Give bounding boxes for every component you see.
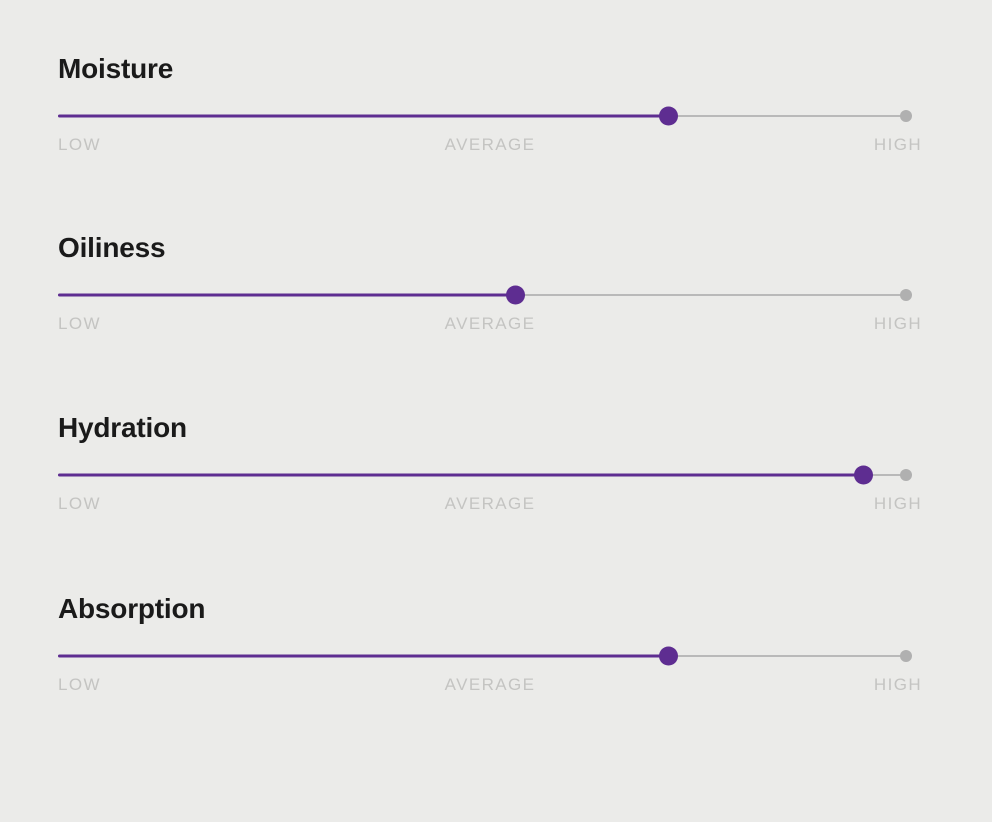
slider-group-oiliness: Oiliness LOW AVERAGE HIGH	[58, 234, 922, 334]
scale-label-low: LOW	[58, 494, 101, 514]
slider-title-moisture: Moisture	[58, 55, 922, 83]
slider-track-oiliness[interactable]	[58, 284, 906, 306]
scale-label-average: AVERAGE	[445, 494, 536, 514]
slider-track-active	[58, 655, 669, 658]
slider-end-dot	[900, 650, 912, 662]
scale-label-high: HIGH	[874, 494, 922, 514]
scale-label-low: LOW	[58, 135, 101, 155]
slider-track-absorption[interactable]	[58, 645, 906, 667]
scale-labels-moisture: LOW AVERAGE HIGH	[58, 135, 922, 155]
slider-track-active	[58, 294, 516, 297]
scale-label-low: LOW	[58, 314, 101, 334]
scale-label-average: AVERAGE	[445, 314, 536, 334]
slider-title-absorption: Absorption	[58, 595, 922, 623]
slider-thumb-absorption[interactable]	[659, 647, 678, 666]
scale-label-high: HIGH	[874, 314, 922, 334]
slider-group-moisture: Moisture LOW AVERAGE HIGH	[58, 55, 922, 155]
slider-end-dot	[900, 469, 912, 481]
slider-group-hydration: Hydration LOW AVERAGE HIGH	[58, 414, 922, 514]
slider-title-oiliness: Oiliness	[58, 234, 922, 262]
slider-thumb-oiliness[interactable]	[506, 286, 525, 305]
slider-thumb-hydration[interactable]	[854, 466, 873, 485]
slider-track-active	[58, 115, 669, 118]
scale-label-high: HIGH	[874, 675, 922, 695]
slider-end-dot	[900, 110, 912, 122]
slider-track-active	[58, 474, 864, 477]
slider-group-absorption: Absorption LOW AVERAGE HIGH	[58, 595, 922, 695]
scale-labels-hydration: LOW AVERAGE HIGH	[58, 494, 922, 514]
scale-label-low: LOW	[58, 675, 101, 695]
scale-label-average: AVERAGE	[445, 135, 536, 155]
scale-label-average: AVERAGE	[445, 675, 536, 695]
skin-analysis-panel: Moisture LOW AVERAGE HIGH Oiliness LOW A…	[0, 0, 992, 822]
scale-label-high: HIGH	[874, 135, 922, 155]
slider-thumb-moisture[interactable]	[659, 107, 678, 126]
slider-title-hydration: Hydration	[58, 414, 922, 442]
scale-labels-oiliness: LOW AVERAGE HIGH	[58, 314, 922, 334]
scale-labels-absorption: LOW AVERAGE HIGH	[58, 675, 922, 695]
slider-track-moisture[interactable]	[58, 105, 906, 127]
slider-track-hydration[interactable]	[58, 464, 906, 486]
slider-end-dot	[900, 289, 912, 301]
